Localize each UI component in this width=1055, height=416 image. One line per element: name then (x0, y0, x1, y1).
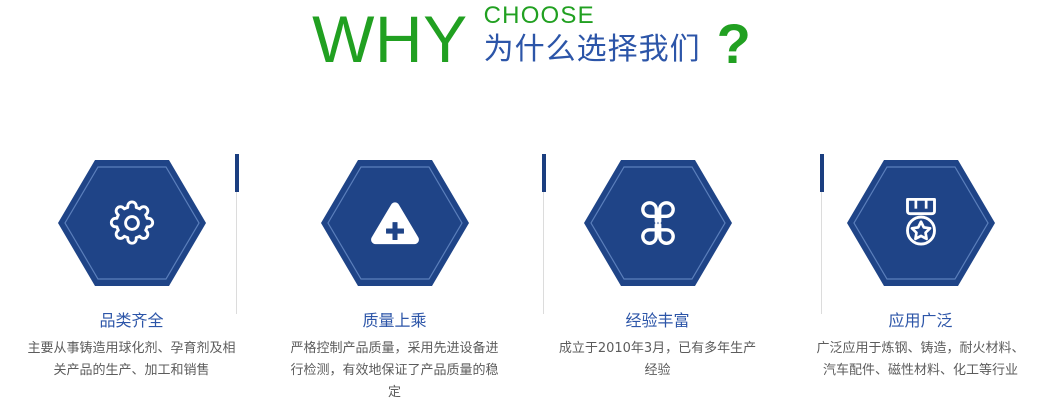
clover-icon (584, 158, 732, 288)
feature-card-3[interactable]: 经验丰富 成立于2010年3月，已有多年生产经验 (526, 140, 789, 404)
card-description: 成立于2010年3月，已有多年生产经验 (553, 338, 763, 382)
header-why-text: WHY (312, 0, 467, 78)
card-title: 应用广泛 (888, 310, 952, 332)
card-description: 广泛应用于炼钢、铸造，耐火材料、汽车配件、磁性材料、化工等行业 (816, 338, 1026, 382)
header-question-mark: ? (717, 12, 751, 76)
feature-card-4[interactable]: 应用广泛 广泛应用于炼钢、铸造，耐火材料、汽车配件、磁性材料、化工等行业 (789, 140, 1052, 404)
card-description: 严格控制产品质量，采用先进设备进行检测，有效地保证了产品质量的稳定 (290, 338, 500, 404)
header-inner: WHY CHOOSE 为什么选择我们 ? (312, 0, 751, 78)
medal-icon (847, 158, 995, 288)
header-chinese-text: 为什么选择我们 (484, 30, 701, 70)
section-header: WHY CHOOSE 为什么选择我们 ? (0, 0, 1055, 100)
card-title: 经验丰富 (625, 310, 689, 332)
why-choose-us-section: WHY CHOOSE 为什么选择我们 ? (0, 0, 1055, 416)
hexagon-badge-3 (584, 158, 732, 288)
card-title: 质量上乘 (362, 310, 426, 332)
card-title: 品类齐全 (99, 310, 163, 332)
hexagon-badge-2 (321, 158, 469, 288)
header-choose-text: CHOOSE (484, 2, 701, 30)
gear-icon (58, 158, 206, 288)
hexagon-badge-4 (847, 158, 995, 288)
header-middle-block: CHOOSE 为什么选择我们 (484, 2, 701, 70)
triangle-plus-icon (321, 158, 469, 288)
feature-card-1[interactable]: 品类齐全 主要从事铸造用球化剂、孕育剂及相关产品的生产、加工和销售 (0, 140, 263, 404)
feature-cards-row: 品类齐全 主要从事铸造用球化剂、孕育剂及相关产品的生产、加工和销售 质量上乘 (0, 140, 1055, 404)
hexagon-badge-1 (58, 158, 206, 288)
card-description: 主要从事铸造用球化剂、孕育剂及相关产品的生产、加工和销售 (27, 338, 237, 382)
feature-card-2[interactable]: 质量上乘 严格控制产品质量，采用先进设备进行检测，有效地保证了产品质量的稳定 (263, 140, 526, 404)
